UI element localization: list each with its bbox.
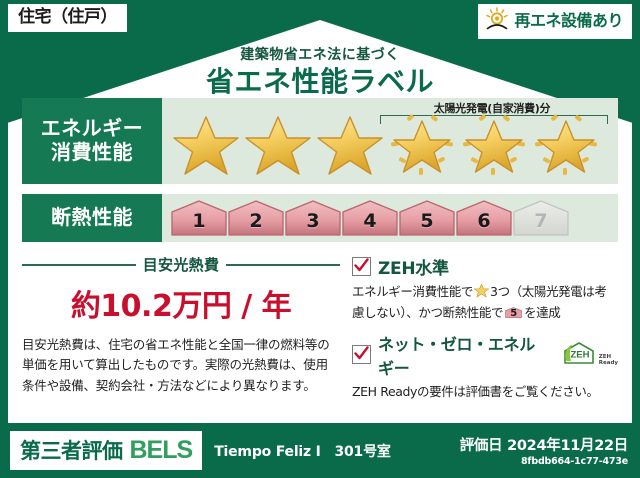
insulation-grade-scale: 1 2 3 4 <box>162 194 618 242</box>
grade-step: 4 <box>341 199 399 237</box>
star-icon <box>173 113 239 177</box>
grade-value: 3 <box>306 210 319 237</box>
star-list <box>162 110 618 184</box>
energy-performance-row: エネルギー 消費性能 太陽光発電(自家消費)分 <box>22 98 618 184</box>
grade-badge-value: 5 <box>505 306 522 322</box>
energy-star-rating: 太陽光発電(自家消費)分 <box>162 98 618 184</box>
energy-label-card: 住宅（住戸） 再エネ設備あり 建築物省エネ法に基づく 省エネ性能ラベル <box>0 0 640 478</box>
insulation-performance-row: 断熱性能 <box>22 194 618 242</box>
star-item-solar <box>386 110 458 180</box>
grade-step: 5 <box>398 199 456 237</box>
grade-step: 2 <box>227 199 285 237</box>
zeh-standard-title: ZEH水準 <box>378 254 449 279</box>
bels-badge: 第三者評価 BELS <box>10 431 202 470</box>
star-icon <box>317 113 383 177</box>
utility-cost-heading-label: 目安光熱費 <box>143 254 220 275</box>
grade-value: 2 <box>249 210 262 237</box>
heading-rule-right <box>226 264 340 266</box>
net-zero-energy-title: ネット・ゼロ・エネルギー <box>378 331 550 379</box>
grade-badge-inline: 5 <box>505 305 522 320</box>
bels-en-label: BELS <box>130 436 193 465</box>
building-name: Tiempo Feliz I 301号室 <box>214 441 391 461</box>
evaluation-id: 8fbdb664-1c77-473e <box>460 456 628 467</box>
grade-value: 5 <box>420 210 433 237</box>
zeh-ready-label: ZEH Ready <box>599 354 618 369</box>
star-item <box>170 110 242 180</box>
utility-cost-amount: 約10.2万円 / 年 <box>22 281 340 325</box>
utility-cost-block: 目安光熱費 約10.2万円 / 年 目安光熱費は、住宅の省エネ性能と全国一律の燃… <box>22 254 340 396</box>
performance-panel: エネルギー 消費性能 太陽光発電(自家消費)分 <box>22 98 618 416</box>
net-zero-energy-checkbox[interactable] <box>352 345 371 364</box>
zeh-standard-item: ZEH水準 エネルギー消費性能で3つ（太陽光発電は考慮しない）、かつ断熱性能で5… <box>352 254 618 323</box>
star-icon <box>474 286 489 301</box>
zeh-block: ZEH水準 エネルギー消費性能で3つ（太陽光発電は考慮しない）、かつ断熱性能で5… <box>352 254 618 409</box>
renewable-equipment-label: 再エネ設備あり <box>514 12 623 30</box>
sun-icon <box>484 7 510 35</box>
energy-performance-label: エネルギー 消費性能 <box>22 98 162 184</box>
utility-cost-note: 目安光熱費は、住宅の省エネ性能と全国一律の燃料等の単価を用いて算出したものです。… <box>22 335 340 396</box>
grade-value: 1 <box>192 210 205 237</box>
footer-bar: 第三者評価 BELS Tiempo Feliz I 301号室 評価日 2024… <box>0 423 640 478</box>
star-item-solar <box>458 110 530 180</box>
zeh-standard-head: ZEH水準 <box>352 254 618 279</box>
zeh-standard-desc: エネルギー消費性能で3つ（太陽光発電は考慮しない）、かつ断熱性能で5を達成 <box>352 282 618 323</box>
star-icon <box>245 113 311 177</box>
dwelling-type-label: 住宅（住戸） <box>18 7 117 27</box>
renewable-equipment-badge: 再エネ設備あり <box>478 4 632 39</box>
grade-step: 1 <box>170 199 228 237</box>
grade-value: 7 <box>534 210 547 237</box>
grade-step: 6 <box>455 199 513 237</box>
grade-value: 4 <box>363 210 376 237</box>
evaluation-info: 評価日 2024年11月22日 8fbdb664-1c77-473e <box>460 434 628 467</box>
insulation-performance-label: 断熱性能 <box>22 194 162 242</box>
utility-cost-heading: 目安光熱費 <box>22 254 340 275</box>
evaluation-date: 評価日 2024年11月22日 <box>460 434 628 455</box>
net-zero-energy-head: ネット・ゼロ・エネルギー ZEH ZEH Ready <box>352 331 618 379</box>
star-sparkle-icon <box>387 110 457 180</box>
star-item-solar <box>530 110 602 180</box>
bels-jp-label: 第三者評価 <box>20 435 123 465</box>
grade-value: 6 <box>477 210 490 237</box>
star-item <box>242 110 314 180</box>
net-zero-energy-desc: ZEH Readyの要件は評価書をご覧ください。 <box>352 382 618 401</box>
zeh-standard-desc-part1: エネルギー消費性能で <box>352 284 473 299</box>
page-title: 省エネ性能ラベル <box>0 60 640 100</box>
zeh-standard-desc-part3: を達成 <box>524 305 560 320</box>
star-sparkle-icon <box>531 110 601 180</box>
svg-text:ZEH: ZEH <box>570 349 589 360</box>
dwelling-type-badge: 住宅（住戸） <box>8 4 127 32</box>
zeh-standard-checkbox[interactable] <box>352 257 371 276</box>
star-sparkle-icon <box>459 110 529 180</box>
grade-step-inactive: 7 <box>512 199 570 237</box>
zeh-ready-logo: ZEH ZEH Ready <box>561 341 618 369</box>
grade-step: 3 <box>284 199 342 237</box>
net-zero-energy-item: ネット・ゼロ・エネルギー ZEH ZEH Ready <box>352 331 618 401</box>
zeh-house-icon: ZEH <box>561 341 597 369</box>
heading-rule-left <box>22 264 136 266</box>
star-item <box>314 110 386 180</box>
